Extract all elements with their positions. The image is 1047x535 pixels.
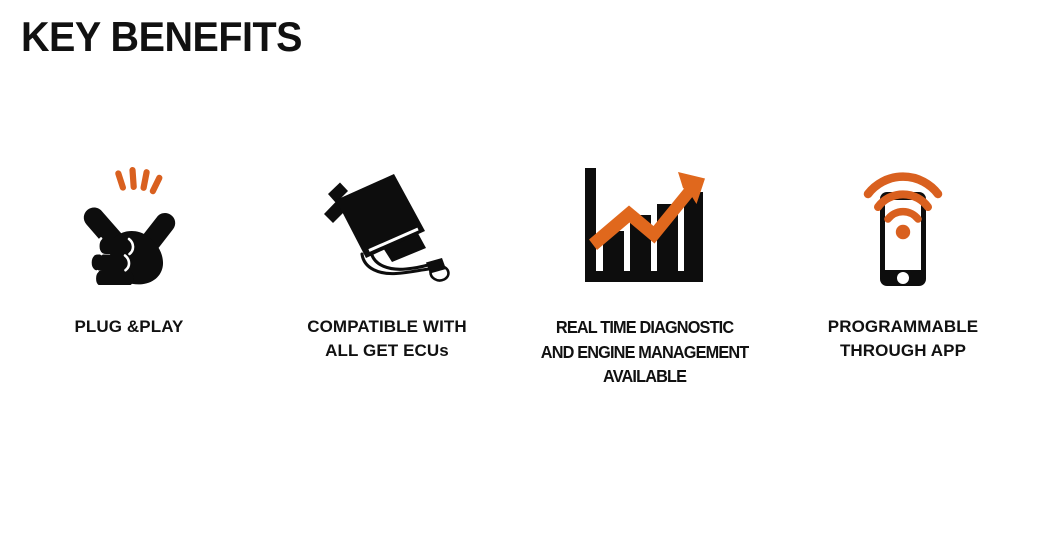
benefit-icon-wrapper bbox=[583, 160, 707, 292]
benefit-icon-wrapper bbox=[862, 160, 944, 292]
snapping-fingers-icon bbox=[79, 167, 179, 285]
benefit-item-realtime-diagnostic: REAL TIME DIAGNOSTIC AND ENGINE MANAGEME… bbox=[516, 160, 774, 389]
benefit-item-compatible-ecus: COMPATIBLE WITH ALL GET ECUs bbox=[258, 160, 516, 363]
benefit-icon-wrapper bbox=[322, 160, 452, 292]
growth-bar-chart-icon bbox=[583, 168, 707, 284]
page-title: KEY BENEFITS bbox=[21, 16, 302, 58]
benefit-caption: PLUG &PLAY bbox=[74, 315, 183, 339]
ecu-module-icon bbox=[322, 170, 452, 282]
benefit-caption: COMPATIBLE WITH ALL GET ECUs bbox=[307, 315, 467, 363]
benefit-caption: REAL TIME DIAGNOSTIC AND ENGINE MANAGEME… bbox=[541, 315, 749, 389]
benefit-icon-wrapper bbox=[79, 160, 179, 292]
benefits-row: PLUG &PLAY bbox=[0, 160, 1047, 389]
key-benefits-slide: KEY BENEFITS bbox=[0, 0, 1047, 535]
benefit-item-plug-and-play: PLUG &PLAY bbox=[0, 160, 258, 339]
benefit-caption: PROGRAMMABLE THROUGH APP bbox=[828, 315, 978, 363]
smartphone-wifi-icon bbox=[862, 166, 944, 286]
benefit-item-programmable-app: PROGRAMMABLE THROUGH APP bbox=[774, 160, 1032, 363]
